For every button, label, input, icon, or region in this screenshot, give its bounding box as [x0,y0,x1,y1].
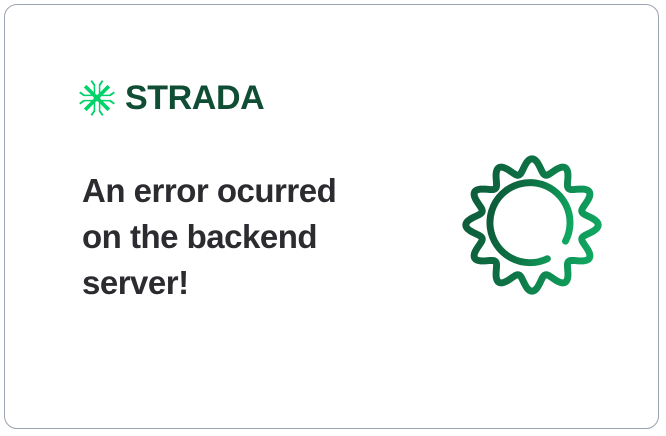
error-message-line: server! [82,260,382,306]
screen: STRADA An error ocurred on the backend s… [0,0,666,436]
error-message-line: on the backend [82,214,382,260]
gear-icon [455,147,609,303]
strada-asterisk-icon [78,79,116,117]
brand-logo: STRADA [78,77,264,119]
brand-wordmark: STRADA [125,81,264,115]
gear-outer-cog [466,159,598,291]
error-message: An error ocurred on the backend server! [82,168,382,306]
error-card: STRADA An error ocurred on the backend s… [4,4,659,429]
error-message-line: An error ocurred [82,168,382,214]
